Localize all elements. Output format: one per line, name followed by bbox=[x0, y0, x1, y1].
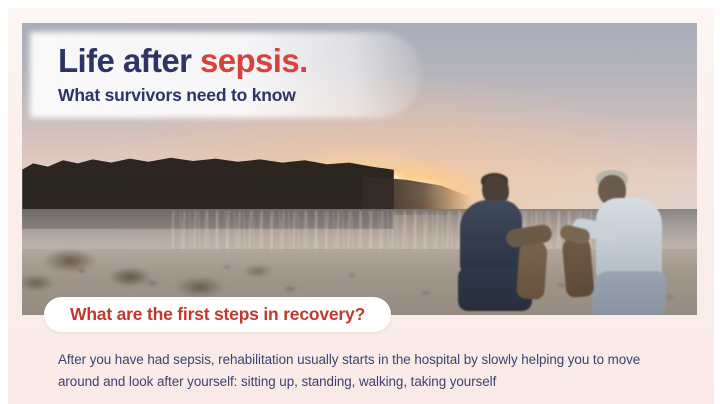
page-title-lead: Life after bbox=[58, 42, 200, 79]
page-title: Life after sepsis. bbox=[58, 42, 478, 79]
leaflet-page: Life after sepsis. What survivors need t… bbox=[0, 0, 720, 404]
man-left-figure bbox=[452, 175, 548, 315]
section-question-pill: What are the first steps in recovery? bbox=[44, 297, 391, 332]
man-right-figure bbox=[582, 171, 682, 315]
man-left-knee bbox=[516, 238, 548, 300]
page-title-accent: sepsis. bbox=[200, 42, 308, 79]
section-body-paragraph: After you have had sepsis, rehabilitatio… bbox=[58, 349, 676, 392]
headline-block: Life after sepsis. What survivors need t… bbox=[58, 42, 478, 106]
man-right-knee bbox=[561, 234, 594, 298]
section-question-text: What are the first steps in recovery? bbox=[70, 304, 365, 325]
section-body: After you have had sepsis, rehabilitatio… bbox=[58, 349, 676, 392]
man-right-leg bbox=[592, 271, 666, 315]
page-subtitle: What survivors need to know bbox=[58, 85, 478, 106]
